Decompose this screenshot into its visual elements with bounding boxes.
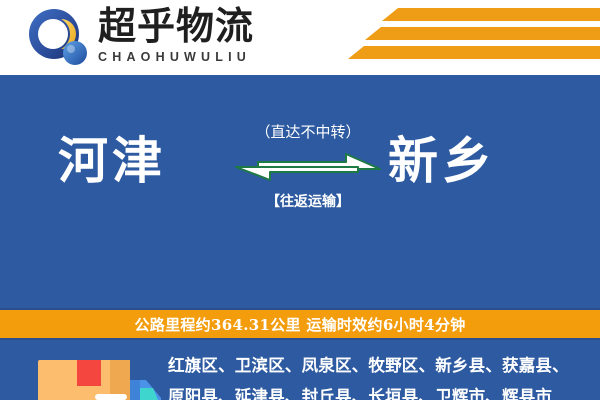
origin-city-name: 河津 xyxy=(58,133,166,189)
circle-crescent-logo-icon xyxy=(28,8,90,68)
distance-duration-text: 公路里程约364.31公里 运输时效约6小时4分钟 xyxy=(134,314,465,335)
coverage-area-list: 红旗区、卫滨区、凤泉区、牧野区、新乡县、获嘉县、 原阳县、延津县、封丘县、长垣县… xyxy=(168,350,588,400)
stripe-1 xyxy=(382,8,600,21)
brand-name-cn: 超乎物流 xyxy=(98,6,288,46)
stripe-3 xyxy=(348,46,600,59)
destination-city-name: 新乡 xyxy=(388,133,496,189)
coverage-line-2: 原阳县、延津县、封丘县、长垣县、卫辉市、辉县市 xyxy=(168,381,588,400)
delivery-truck-icon xyxy=(22,348,167,400)
banner-header: 超乎物流 CHAOHUWULIU xyxy=(0,0,600,75)
route-middle-block: （直达不中转） 【往返运输】 xyxy=(228,105,388,240)
stripe-2 xyxy=(365,27,600,40)
brand-name-en: CHAOHUWULIU xyxy=(98,49,288,65)
coverage-section: 红旗区、卫滨区、凤泉区、牧野区、新乡县、获嘉县、 原阳县、延津县、封丘县、长垣县… xyxy=(0,340,600,400)
route-section: 河津 新乡 （直达不中转） 【往返运输】 xyxy=(0,105,600,240)
direct-route-note: （直达不中转） xyxy=(228,123,388,141)
round-trip-note: 【往返运输】 xyxy=(228,193,388,211)
coverage-line-1: 红旗区、卫滨区、凤泉区、牧野区、新乡县、获嘉县、 xyxy=(168,350,588,381)
orange-speed-stripes-icon xyxy=(340,6,600,68)
logistics-route-banner: 超乎物流 CHAOHUWULIU 河津 新乡 （直达不中转） xyxy=(0,0,600,400)
double-headed-arrow-icon xyxy=(228,150,388,190)
distance-duration-bar: 公路里程约364.31公里 运输时效约6小时4分钟 xyxy=(0,308,600,340)
brand-block: 超乎物流 CHAOHUWULIU xyxy=(98,6,288,65)
main-blue-panel: 河津 新乡 （直达不中转） 【往返运输】 公路里程约364.31公里 运输时效约… xyxy=(0,75,600,400)
